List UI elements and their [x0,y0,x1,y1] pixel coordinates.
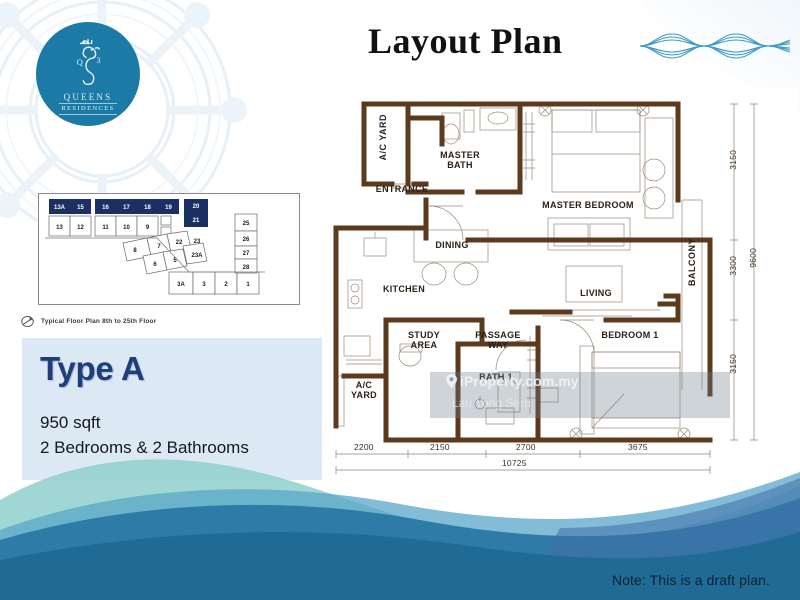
room-label-ac-yard-top: A/C YARD [378,114,388,161]
room-label-balcony: BALCONY [687,238,697,286]
svg-text:13A: 13A [54,205,66,211]
page-title: Layout Plan [368,20,563,62]
watermark-text: iProperty.com.my [460,373,579,389]
svg-text:13: 13 [56,225,63,231]
logo-brand-sub: RESIDENCES [59,103,116,115]
room-label-master-bath: MASTER BATH [424,150,496,170]
room-label-master-bedroom: MASTER BEDROOM [526,200,650,210]
logo-brand-name: QUEENS [64,92,113,102]
svg-text:11: 11 [102,225,109,231]
draft-note: Note: This is a draft plan. [612,572,770,588]
dimension-right-3: 3150 [728,354,738,374]
unit-type-title: Type A [40,350,145,388]
room-label-ac-yard-bottom: A/C YARD [342,380,386,400]
room-label-bedroom-1: BEDROOM 1 [578,330,682,340]
svg-text:10: 10 [123,225,130,231]
key-plan: 13A 15 16 17 18 19 20 21 13 12 11 10 9 8… [38,193,300,305]
svg-text:23A: 23A [191,253,203,259]
room-label-study-area: STUDY AREA [392,330,456,350]
room-label-living: LIVING [568,288,624,298]
room-label-dining: DINING [422,240,482,250]
svg-text:12: 12 [77,225,84,231]
svg-text:28: 28 [243,265,250,271]
svg-text:18: 18 [144,205,151,211]
slide-canvas: Q 3 QUEENS RESIDENCES [0,0,800,600]
key-plan-caption-text: Typical Floor Plan 8th to 25th Floor [41,318,156,325]
brand-logo: Q 3 QUEENS RESIDENCES [36,22,140,126]
svg-text:3: 3 [96,56,100,65]
room-label-entrance: ENTRANCE [352,184,452,194]
svg-text:3A: 3A [177,282,185,288]
svg-text:22: 22 [176,240,183,246]
svg-text:Q: Q [77,58,83,67]
room-label-kitchen: KITCHEN [370,284,438,294]
watermark-brand: iProperty.com.my [446,373,579,389]
dimension-right-total: 9600 [748,248,758,268]
dimension-right-1: 3150 [728,150,738,170]
svg-text:19: 19 [165,205,172,211]
svg-text:17: 17 [123,205,130,211]
svg-text:20: 20 [193,204,200,210]
compass-icon [20,315,35,328]
svg-text:15: 15 [77,205,84,211]
wave-ornament-icon [640,28,790,64]
svg-text:23: 23 [194,239,201,245]
location-pin-icon [446,374,457,388]
svg-text:26: 26 [243,237,250,243]
key-plan-caption: Typical Floor Plan 8th to 25th Floor [20,315,300,328]
svg-text:27: 27 [243,251,250,257]
svg-text:16: 16 [102,205,109,211]
svg-text:25: 25 [243,221,250,227]
svg-text:21: 21 [193,218,200,224]
watermark-agent: Lau Yong Sern [452,396,531,410]
dimension-right-2: 3300 [728,256,738,276]
seahorse-logo-icon: Q 3 [60,35,116,91]
room-label-passage-way: PASSAGE WAY [462,330,534,350]
